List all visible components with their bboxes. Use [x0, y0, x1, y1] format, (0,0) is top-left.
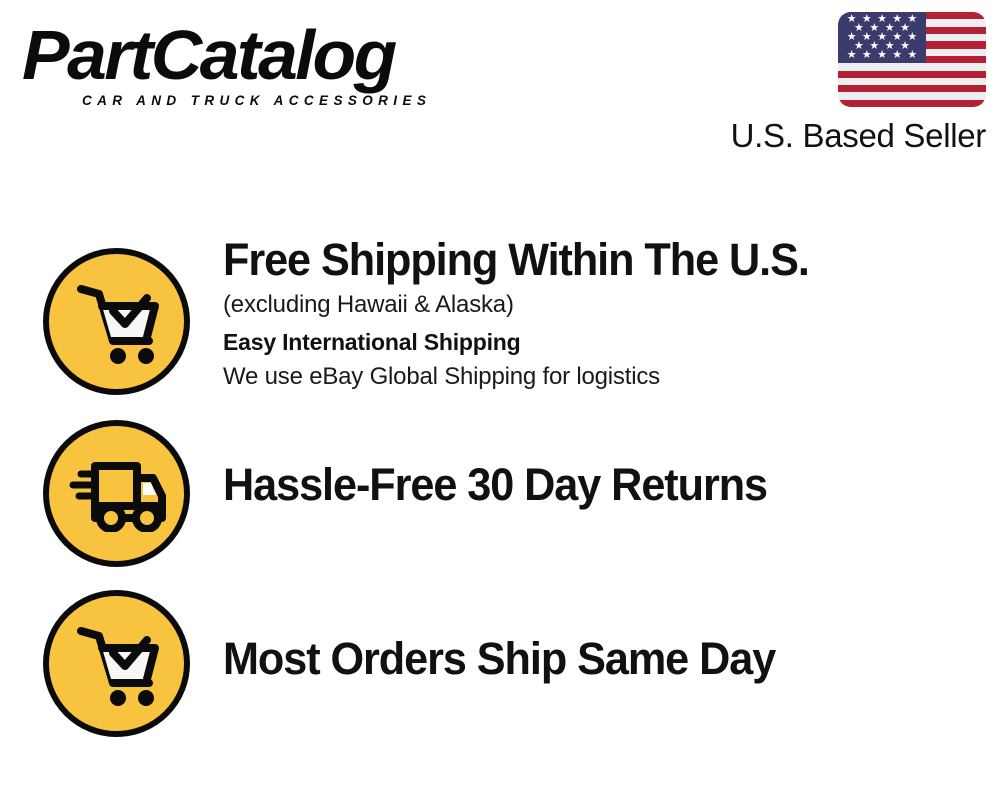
- shopping-cart-check-icon: [43, 248, 190, 395]
- us-based-seller-badge: ★ ★ ★ ★ ★ ★ ★ ★ ★ ★ ★ ★ ★ ★: [724, 12, 986, 156]
- shopping-cart-check-icon: [43, 590, 190, 737]
- flag-star: ★: [907, 51, 917, 60]
- brand-wordmark: PartCatalog: [22, 18, 501, 92]
- feature-title: Most Orders Ship Same Day: [223, 633, 969, 685]
- flag-stripe: [838, 71, 986, 78]
- flag-stripe: [838, 63, 986, 70]
- flag-star-row: ★ ★ ★ ★ ★: [842, 51, 923, 60]
- flag-stripe: [838, 92, 986, 99]
- feature-title: Free Shipping Within The U.S.: [223, 234, 969, 286]
- feature-row: Hassle-Free 30 Day Returns: [0, 418, 1000, 590]
- feature-text: Most Orders Ship Same Day: [190, 590, 1000, 685]
- flag-stripe: [838, 100, 986, 107]
- seller-banner: PartCatalog CAR AND TRUCK ACCESSORIES: [0, 0, 1000, 800]
- flag-star: ★: [877, 51, 887, 60]
- feature-list: Free Shipping Within The U.S. (excluding…: [0, 232, 1000, 766]
- delivery-truck-icon: [43, 420, 190, 567]
- flag-stripe: [838, 78, 986, 85]
- brand-logo: PartCatalog CAR AND TRUCK ACCESSORIES: [22, 18, 492, 118]
- flag-star: ★: [847, 51, 857, 60]
- seller-label: U.S. Based Seller: [724, 116, 986, 156]
- feature-note: (excluding Hawaii & Alaska): [223, 288, 1000, 322]
- flag-canton: ★ ★ ★ ★ ★ ★ ★ ★ ★ ★ ★ ★ ★ ★: [838, 12, 926, 63]
- feature-subtitle: We use eBay Global Shipping for logistic…: [223, 360, 1000, 394]
- us-flag-icon: ★ ★ ★ ★ ★ ★ ★ ★ ★ ★ ★ ★ ★ ★: [838, 12, 986, 107]
- feature-subtitle-strong: Easy International Shipping: [223, 325, 1000, 359]
- flag-star: ★: [892, 51, 902, 60]
- feature-row: Most Orders Ship Same Day: [0, 590, 1000, 766]
- flag-star: ★: [862, 51, 872, 60]
- flag-stripe: [838, 85, 986, 92]
- brand-tagline: CAR AND TRUCK ACCESSORIES: [82, 93, 492, 108]
- feature-title: Hassle-Free 30 Day Returns: [223, 459, 969, 511]
- feature-row: Free Shipping Within The U.S. (excluding…: [0, 232, 1000, 418]
- feature-text: Free Shipping Within The U.S. (excluding…: [190, 232, 1000, 394]
- feature-text: Hassle-Free 30 Day Returns: [190, 418, 1000, 511]
